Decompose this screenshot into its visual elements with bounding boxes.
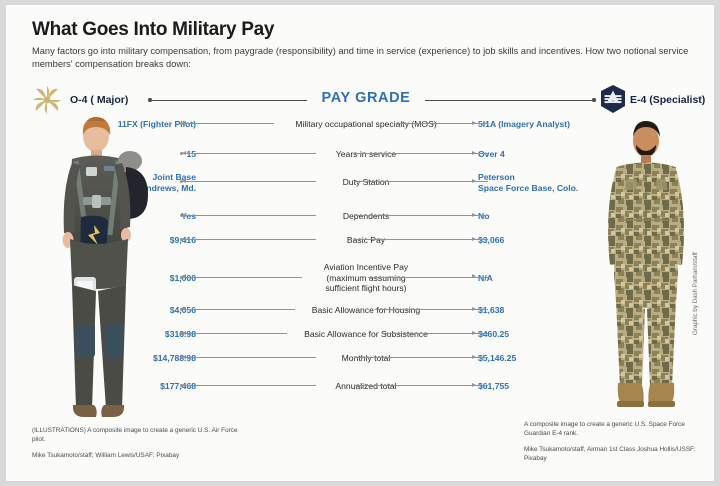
row-label: Monthly total [236, 353, 496, 364]
row-arrow-left [182, 355, 186, 359]
row-value-left: 15 [186, 149, 196, 160]
row-label: Basic Pay [236, 235, 496, 246]
row-arrow-left [182, 383, 186, 387]
page-subtitle: Many factors go into military compensati… [32, 45, 698, 70]
row-value-right: PetersonSpace Force Base, Colo. [478, 172, 578, 193]
row-connector-left [182, 215, 316, 216]
row-arrow-right [472, 237, 476, 241]
space-force-e4-chevron-icon [600, 85, 626, 113]
row-arrow-left [182, 331, 186, 335]
credit-left: (ILLUSTRATIONS) A composite image to cre… [32, 426, 247, 460]
row-connector-right [354, 357, 488, 358]
infographic-canvas: What Goes Into Military Pay Many factors… [6, 5, 714, 481]
row-connector-right [354, 181, 488, 182]
row-arrow-right [472, 151, 476, 155]
row-connector-left [182, 309, 295, 310]
row-value-right: N/A [478, 273, 493, 284]
row-value-right: $61,755 [478, 381, 509, 392]
row-arrow-right [472, 383, 476, 387]
row-value-right: $1,638 [478, 305, 504, 316]
graphic-credit-vertical: Graphic by Dash Parham/staff [692, 252, 699, 335]
row-arrow-right [472, 121, 476, 125]
row-label: Dependents [236, 211, 496, 222]
row-label: Years in service [236, 149, 496, 160]
row-label: Duty Station [236, 177, 496, 188]
row-arrow-right [472, 331, 476, 335]
row-arrow-left [182, 237, 186, 241]
row-arrow-right [472, 179, 476, 183]
row-value-right: $5,146.25 [478, 353, 516, 364]
credit-left-note: (ILLUSTRATIONS) A composite image to cre… [32, 427, 238, 443]
row-connector-right [354, 215, 488, 216]
row-label: Basic Allowance for Housing [236, 305, 496, 316]
row-connector-right [375, 309, 488, 310]
row-value-right: 5I1A (Imagery Analyst) [478, 119, 570, 130]
row-value-right: Over 4 [478, 149, 505, 160]
row-connector-left [182, 357, 316, 358]
row-arrow-left [182, 121, 186, 125]
row-arrow-left [182, 151, 186, 155]
row-arrow-right [472, 307, 476, 311]
row-arrow-left [182, 179, 186, 183]
row-connector-right [368, 277, 488, 278]
row-connector-left [182, 385, 316, 386]
row-arrow-right [472, 213, 476, 217]
row-value-right: $3,066 [478, 235, 504, 246]
air-force-pilot-photo [42, 109, 166, 421]
row-arrow-left [182, 307, 186, 311]
row-connector-left [182, 333, 287, 334]
row-connector-right [354, 239, 488, 240]
row-connector-left [182, 181, 316, 182]
row-value-right: $460.25 [478, 329, 509, 340]
row-connector-right [354, 153, 488, 154]
row-arrow-left [182, 213, 186, 217]
credit-right-byline: Mike Tsukamoto/staff, Airman 1st Class J… [524, 445, 704, 463]
page-title: What Goes Into Military Pay [32, 19, 274, 41]
row-connector-right [354, 385, 488, 386]
credit-right: A composite image to create a generic U.… [524, 420, 704, 463]
row-arrow-left [182, 274, 186, 278]
row-label: Aviation Incentive Pay(maximum assumings… [236, 262, 496, 294]
row-label: Annualized total [236, 381, 496, 392]
row-label: Basic Allowance for Subsistence [236, 329, 496, 340]
row-arrow-right [472, 274, 476, 278]
row-connector-left [182, 239, 316, 240]
row-arrow-right [472, 355, 476, 359]
row-value-right: No [478, 211, 489, 222]
credit-left-byline: Mike Tsukamoto/staff; William Lewis/USAF… [32, 451, 247, 460]
space-force-guardian-photo [598, 115, 694, 417]
row-connector-left [182, 123, 274, 124]
row-label: Military occupational specialty (MOS) [236, 119, 496, 130]
connector-line-right [425, 100, 593, 101]
credit-right-note: A composite image to create a generic U.… [524, 421, 685, 437]
paygrade-right-rank: E-4 (Specialist) [630, 94, 705, 106]
row-connector-left [182, 153, 316, 154]
connector-dot-right [592, 98, 596, 102]
row-connector-left [182, 277, 302, 278]
